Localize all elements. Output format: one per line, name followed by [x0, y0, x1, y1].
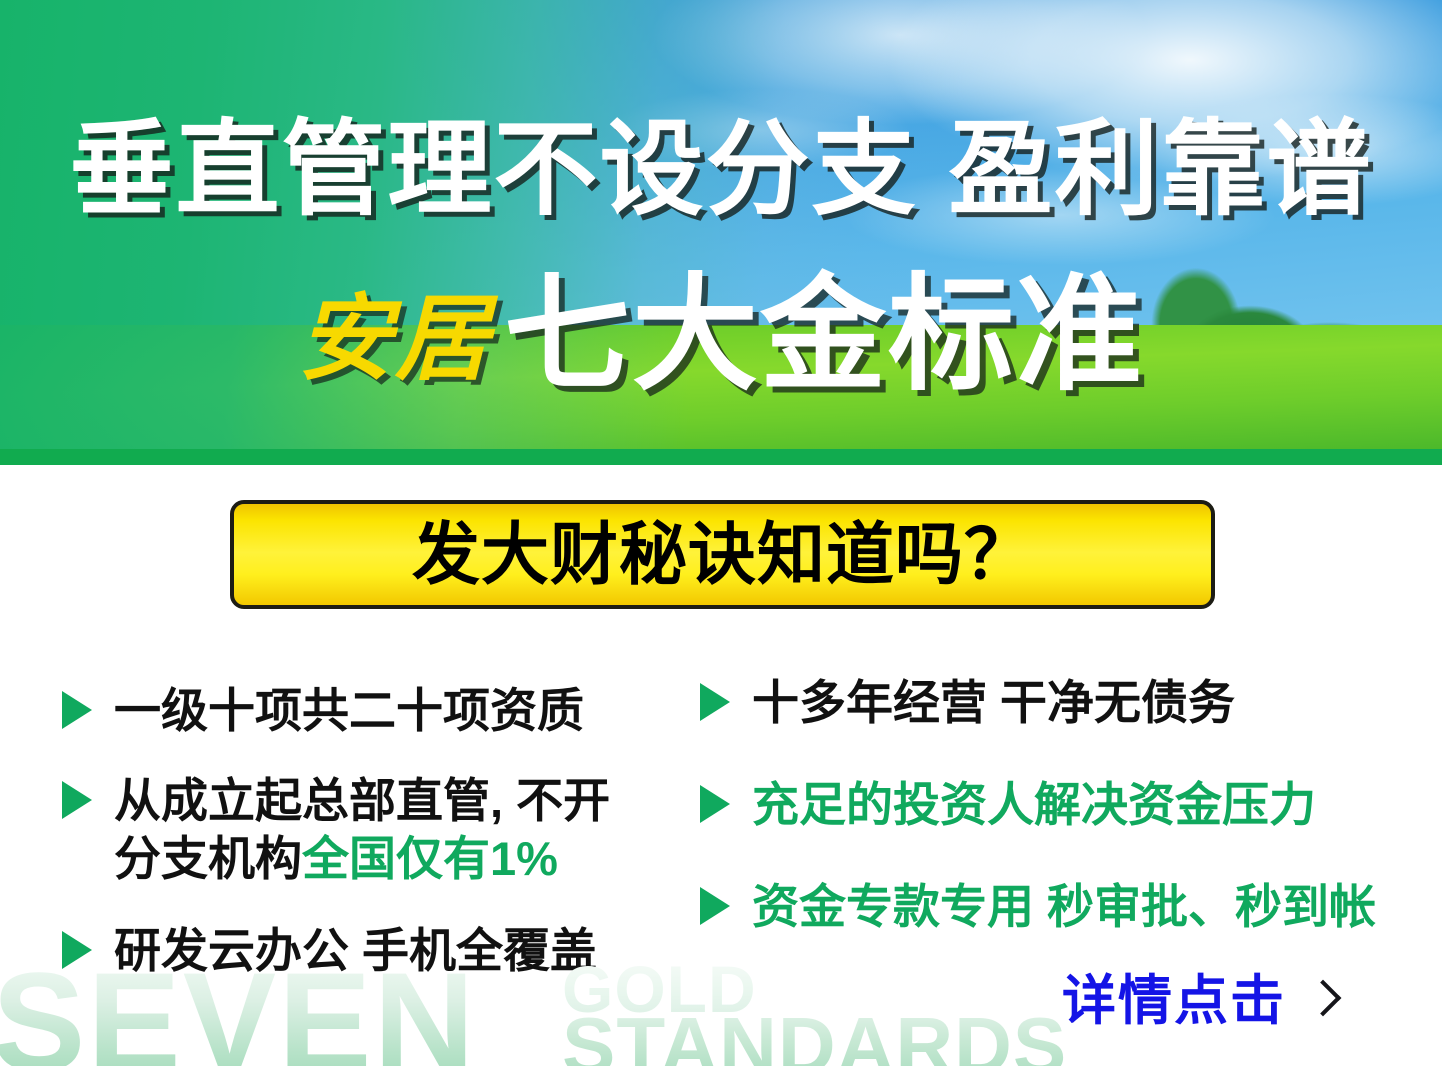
list-item-text: 充足的投资人解决资金压力: [752, 776, 1316, 834]
triangle-bullet-icon: [62, 781, 92, 819]
details-cta-link[interactable]: 详情点击: [1062, 972, 1334, 1030]
hero-bottom-bar: [0, 449, 1442, 465]
watermark-word-standards: STANDARDS: [562, 1008, 1067, 1066]
list-item-text-line1: 从成立起总部直管, 不开: [114, 774, 610, 827]
hero-section: 垂直管理不设分支 盈利靠谱 安居七大金标准: [0, 0, 1442, 465]
list-item-text: 资金专款专用 秒审批、秒到帐: [752, 878, 1376, 936]
list-item: 从成立起总部直管, 不开 分支机构全国仅有1%: [62, 772, 610, 888]
list-item-text: 从成立起总部直管, 不开 分支机构全国仅有1%: [114, 772, 610, 888]
triangle-bullet-icon: [700, 887, 730, 925]
chevron-right-icon: [1308, 979, 1334, 1023]
list-item: 一级十项共二十项资质: [62, 682, 584, 740]
hero-headline-primary: 垂直管理不设分支 盈利靠谱: [0, 118, 1442, 222]
feature-list: 一级十项共二十项资质 从成立起总部直管, 不开 分支机构全国仅有1% 研发云办公…: [0, 660, 1442, 990]
list-item-text: 一级十项共二十项资质: [114, 682, 584, 740]
list-item-text-highlight: 全国仅有1%: [302, 832, 558, 885]
list-item: 十多年经营 干净无债务: [700, 674, 1235, 732]
list-item-text-plain: 分支机构: [114, 832, 302, 885]
list-item-text-line2: 分支机构全国仅有1%: [114, 830, 610, 888]
hero-headline-standards: 七大金标准: [504, 272, 1144, 398]
list-item-text: 十多年经营 干净无债务: [752, 674, 1235, 732]
promo-banner: 垂直管理不设分支 盈利靠谱 安居七大金标准 发大财秘诀知道吗？ 一级十项共二十项…: [0, 0, 1442, 1066]
triangle-bullet-icon: [700, 785, 730, 823]
list-item-text: 研发云办公 手机全覆盖: [114, 922, 597, 980]
question-banner-text: 发大财秘诀知道吗？: [412, 520, 1033, 590]
triangle-bullet-icon: [62, 931, 92, 969]
list-item: 充足的投资人解决资金压力: [700, 776, 1316, 834]
details-cta-label: 详情点击: [1062, 972, 1286, 1030]
hero-headline-secondary: 安居七大金标准: [0, 272, 1442, 398]
question-banner[interactable]: 发大财秘诀知道吗？: [230, 500, 1215, 609]
list-item: 研发云办公 手机全覆盖: [62, 922, 597, 980]
triangle-bullet-icon: [62, 691, 92, 729]
triangle-bullet-icon: [700, 683, 730, 721]
hero-headline-brand: 安居: [298, 280, 504, 398]
list-item: 资金专款专用 秒审批、秒到帐: [700, 878, 1376, 936]
